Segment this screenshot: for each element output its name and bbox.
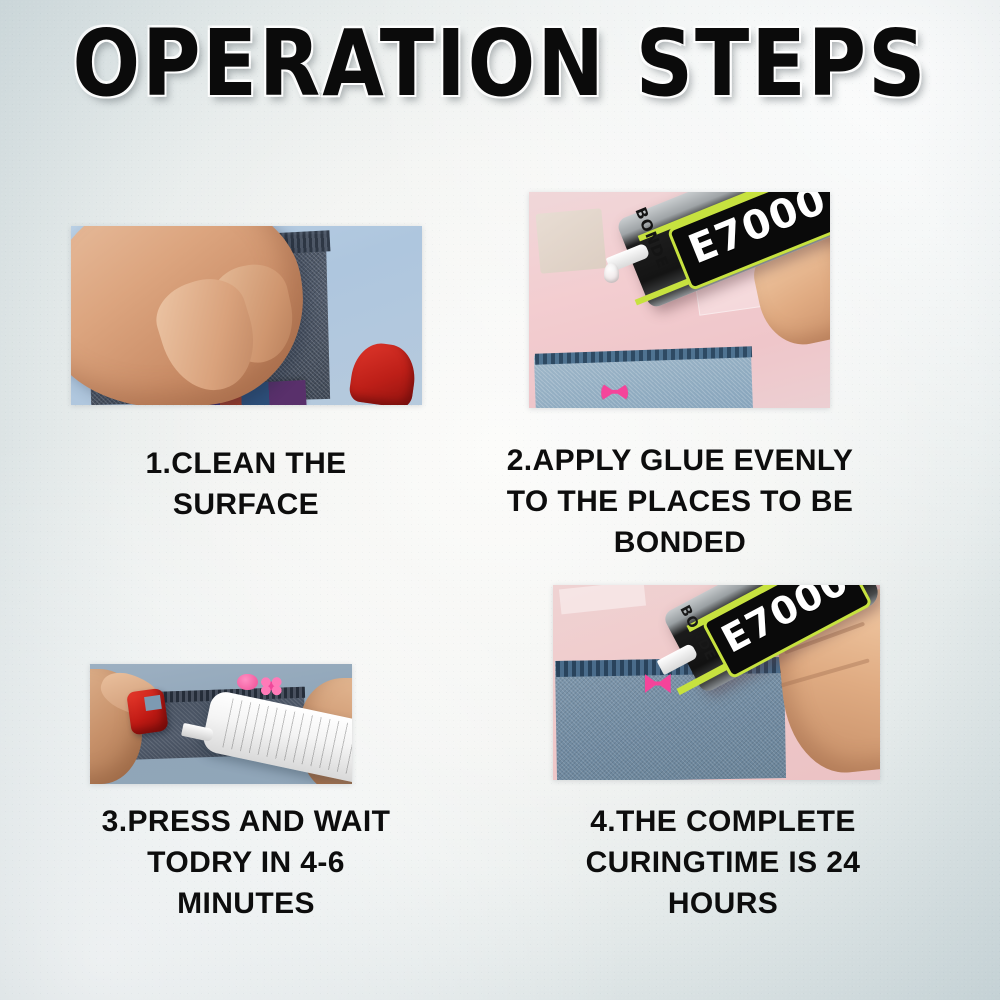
step-2-scene: E7000 BONDE	[529, 192, 830, 408]
step-2-caption-line-2: TO THE PLACES TO BE	[487, 481, 873, 522]
step-4-photo: E7000 BONDE	[553, 585, 880, 780]
step-3-caption-line-2: TODRY IN 4-6	[46, 842, 446, 883]
step-3-caption-line-3: MINUTES	[46, 883, 446, 924]
step-1-caption-line-1: 1.CLEAN THE	[46, 443, 446, 484]
red-cap-notch	[144, 695, 162, 711]
step-3-photo	[90, 664, 352, 784]
paper-scrap	[536, 209, 607, 275]
step-2-caption-line-3: BONDED	[487, 522, 873, 563]
operation-steps-poster: OPERATION STEPS 1.CLEAN THE SURFACE	[0, 0, 1000, 1000]
glue-drop	[604, 263, 619, 282]
step-4-caption-line-3: HOURS	[530, 883, 916, 924]
page-title: OPERATION STEPS	[0, 13, 1000, 114]
step-2-caption-line-1: 2.APPLY GLUE EVENLY	[487, 440, 873, 481]
step-1-caption: 1.CLEAN THE SURFACE	[46, 443, 446, 525]
step-3-scene	[90, 664, 352, 784]
step-4-scene: E7000 BONDE	[553, 585, 880, 780]
step-3-caption: 3.PRESS AND WAIT TODRY IN 4-6 MINUTES	[46, 801, 446, 924]
pink-heart-decoration	[237, 674, 258, 691]
step-2-photo: E7000 BONDE	[529, 192, 830, 408]
step-1-scene	[71, 226, 422, 405]
red-cap	[126, 688, 168, 736]
step-1-caption-line-2: SURFACE	[46, 484, 446, 525]
step-4-caption-line-1: 4.THE COMPLETE	[530, 801, 916, 842]
step-3-caption-line-1: 3.PRESS AND WAIT	[46, 801, 446, 842]
step-1-photo	[71, 226, 422, 405]
step-4-caption-line-2: CURINGTIME IS 24	[530, 842, 916, 883]
step-2-caption: 2.APPLY GLUE EVENLY TO THE PLACES TO BE …	[487, 440, 873, 563]
step-4-caption: 4.THE COMPLETE CURINGTIME IS 24 HOURS	[530, 801, 916, 924]
pink-flower-decoration	[258, 676, 284, 696]
